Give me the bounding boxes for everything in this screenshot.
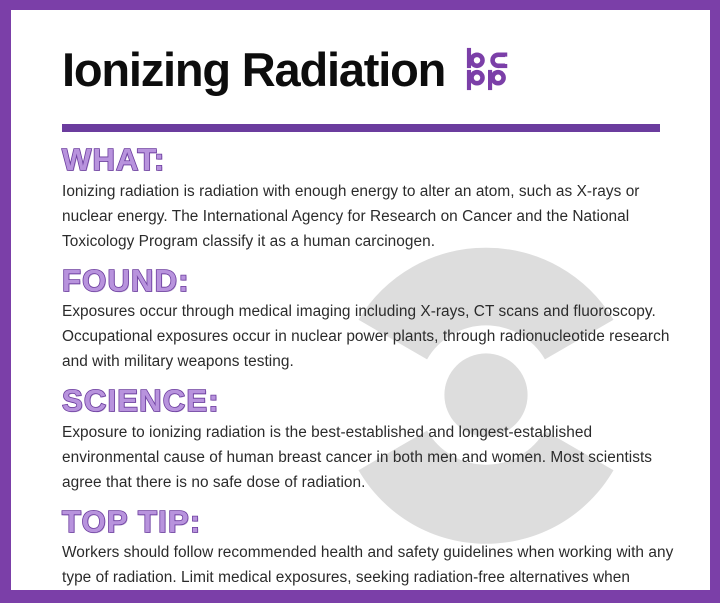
section-body-top-tip: Workers should follow recommended health… [62,541,674,590]
section-heading-what: WHAT: [62,143,674,178]
section-found: FOUND: Exposures occur through medical i… [62,264,674,376]
card-inner: Ionizing Radiation [11,10,710,590]
sections-list: WHAT: Ionizing radiation is radiation wi… [62,143,674,590]
section-top-tip: TOP TIP: Workers should follow recommend… [62,505,674,590]
bcpp-logo[interactable] [465,47,511,91]
section-heading-science: SCIENCE: [62,384,674,419]
header: Ionizing Radiation [62,26,662,112]
section-body-what: Ionizing radiation is radiation with eno… [62,180,674,255]
section-body-science: Exposure to ionizing radiation is the be… [62,421,674,496]
infographic-card: Ionizing Radiation [0,0,720,603]
header-divider [62,124,660,132]
section-heading-top-tip: TOP TIP: [62,505,674,540]
section-body-found: Exposures occur through medical imaging … [62,300,674,375]
page-title: Ionizing Radiation [62,46,445,93]
section-heading-found: FOUND: [62,264,674,299]
section-science: SCIENCE: Exposure to ionizing radiation … [62,384,674,496]
section-what: WHAT: Ionizing radiation is radiation wi… [62,143,674,255]
